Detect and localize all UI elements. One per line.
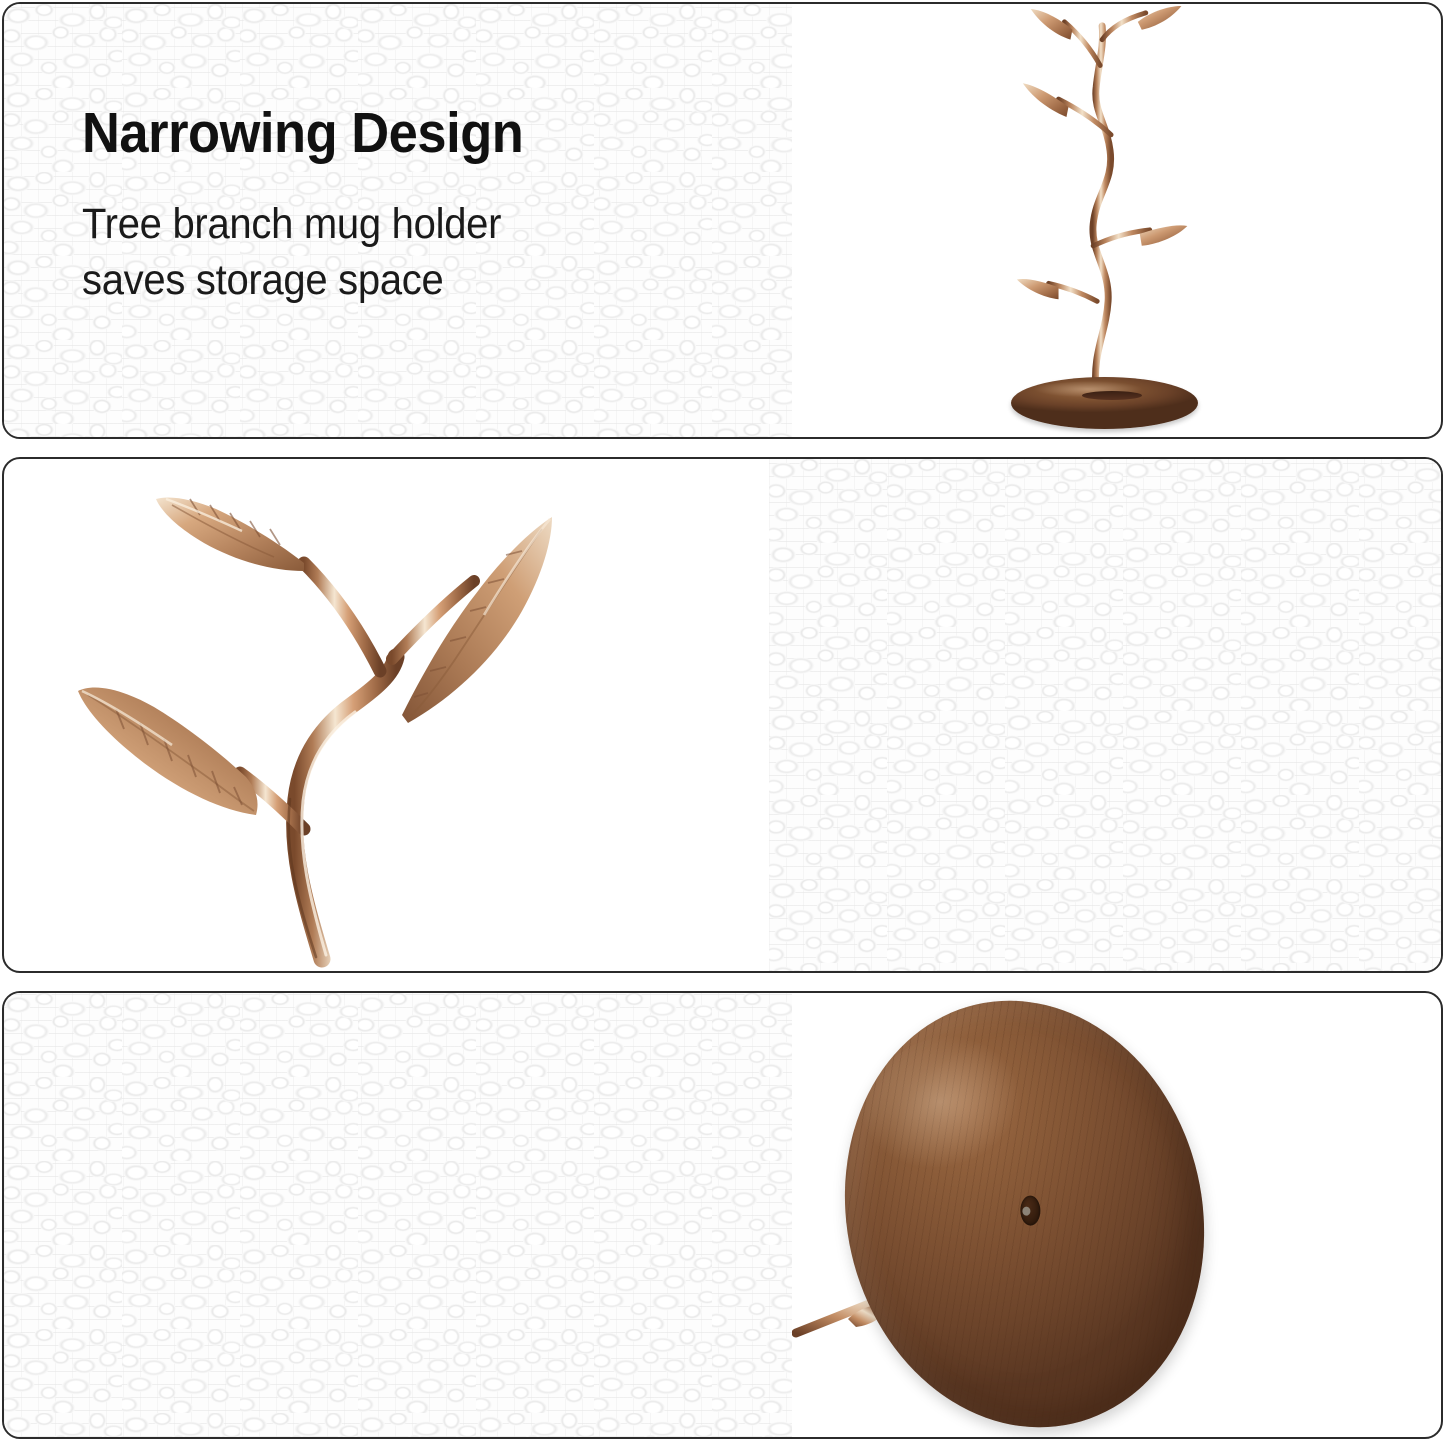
infographic-sheet: Narrowing Design Tree branch mug holder … — [0, 0, 1445, 1441]
narrowing-design-text-block: Narrowing Design Tree branch mug holder … — [82, 104, 722, 309]
body-line: Tree branch mug holder — [82, 197, 677, 253]
body-line: saves storage space — [82, 253, 677, 309]
center-mounting-hole — [1020, 1195, 1041, 1225]
product-photo-leaf-branch-closeup — [4, 459, 772, 971]
paper-texture-background — [769, 459, 1441, 971]
metal-tree-branch-graphic — [792, 4, 1441, 437]
product-photo-mug-tree-stand — [792, 4, 1441, 437]
base-center-slot — [1082, 391, 1142, 400]
product-photo-wood-base-closeup — [792, 993, 1441, 1437]
panel-vivid-leaves: Vivid leaves forged by precision molds N… — [2, 457, 1443, 973]
leaf-upper-left — [156, 497, 304, 571]
leaf-lower-left — [78, 688, 258, 815]
panel-heading-narrowing-design: Narrowing Design — [82, 104, 671, 163]
paper-texture-background — [4, 993, 792, 1437]
panel-sturdy: Sturdy Thicker solid wood base thickness… — [2, 991, 1443, 1439]
wood-base-disc — [1011, 377, 1198, 429]
rose-gold-leaf-branch-graphic — [4, 459, 772, 973]
panel-body-narrowing-design: Tree branch mug holder saves storage spa… — [82, 197, 677, 309]
panel-narrowing-design: Narrowing Design Tree branch mug holder … — [2, 2, 1443, 439]
